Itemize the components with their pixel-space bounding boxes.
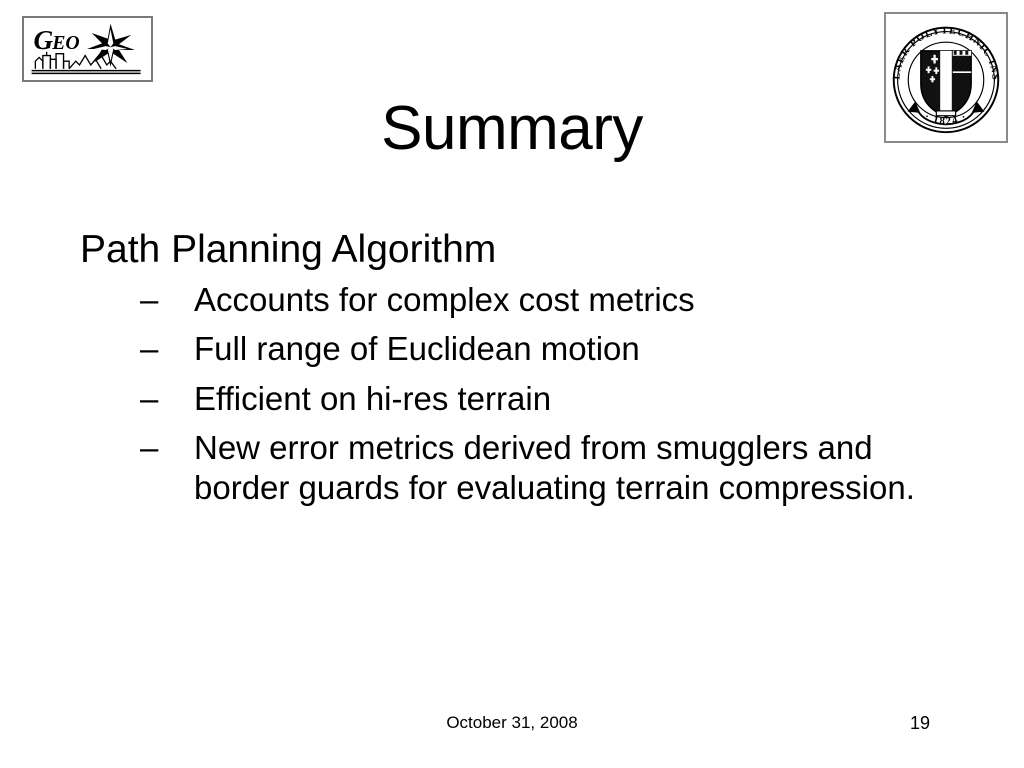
list-item-label: Accounts for complex cost metrics: [194, 281, 695, 318]
list-item-label: New error metrics derived from smugglers…: [194, 429, 915, 506]
geo-logo-graphic: G EO: [24, 18, 151, 80]
list-item: – Full range of Euclidean motion: [136, 329, 954, 369]
page-title: Summary: [0, 96, 1024, 161]
bullet-dash-icon: –: [140, 379, 158, 419]
bullet-dash-icon: –: [140, 280, 158, 320]
slide-canvas: G EO: [0, 0, 1024, 768]
slide-body: Path Planning Algorithm – Accounts for c…: [80, 228, 960, 518]
list-item: – New error metrics derived from smuggle…: [136, 428, 954, 507]
list-item-label: Efficient on hi-res terrain: [194, 380, 551, 417]
geo-wordmark-g: G: [33, 25, 53, 55]
bullet-list: – Accounts for complex cost metrics – Fu…: [80, 280, 960, 508]
list-item-label: Full range of Euclidean motion: [194, 330, 640, 367]
geo-wordmark-eo: EO: [51, 32, 79, 54]
list-item: – Efficient on hi-res terrain: [136, 379, 954, 419]
footer-page-number: 19: [860, 713, 980, 735]
bullet-dash-icon: –: [140, 329, 158, 369]
bullet-dash-icon: –: [140, 428, 158, 468]
bullet-level1: Path Planning Algorithm: [80, 228, 960, 272]
geo-logo: G EO: [22, 16, 153, 82]
list-item: – Accounts for complex cost metrics: [136, 280, 954, 320]
